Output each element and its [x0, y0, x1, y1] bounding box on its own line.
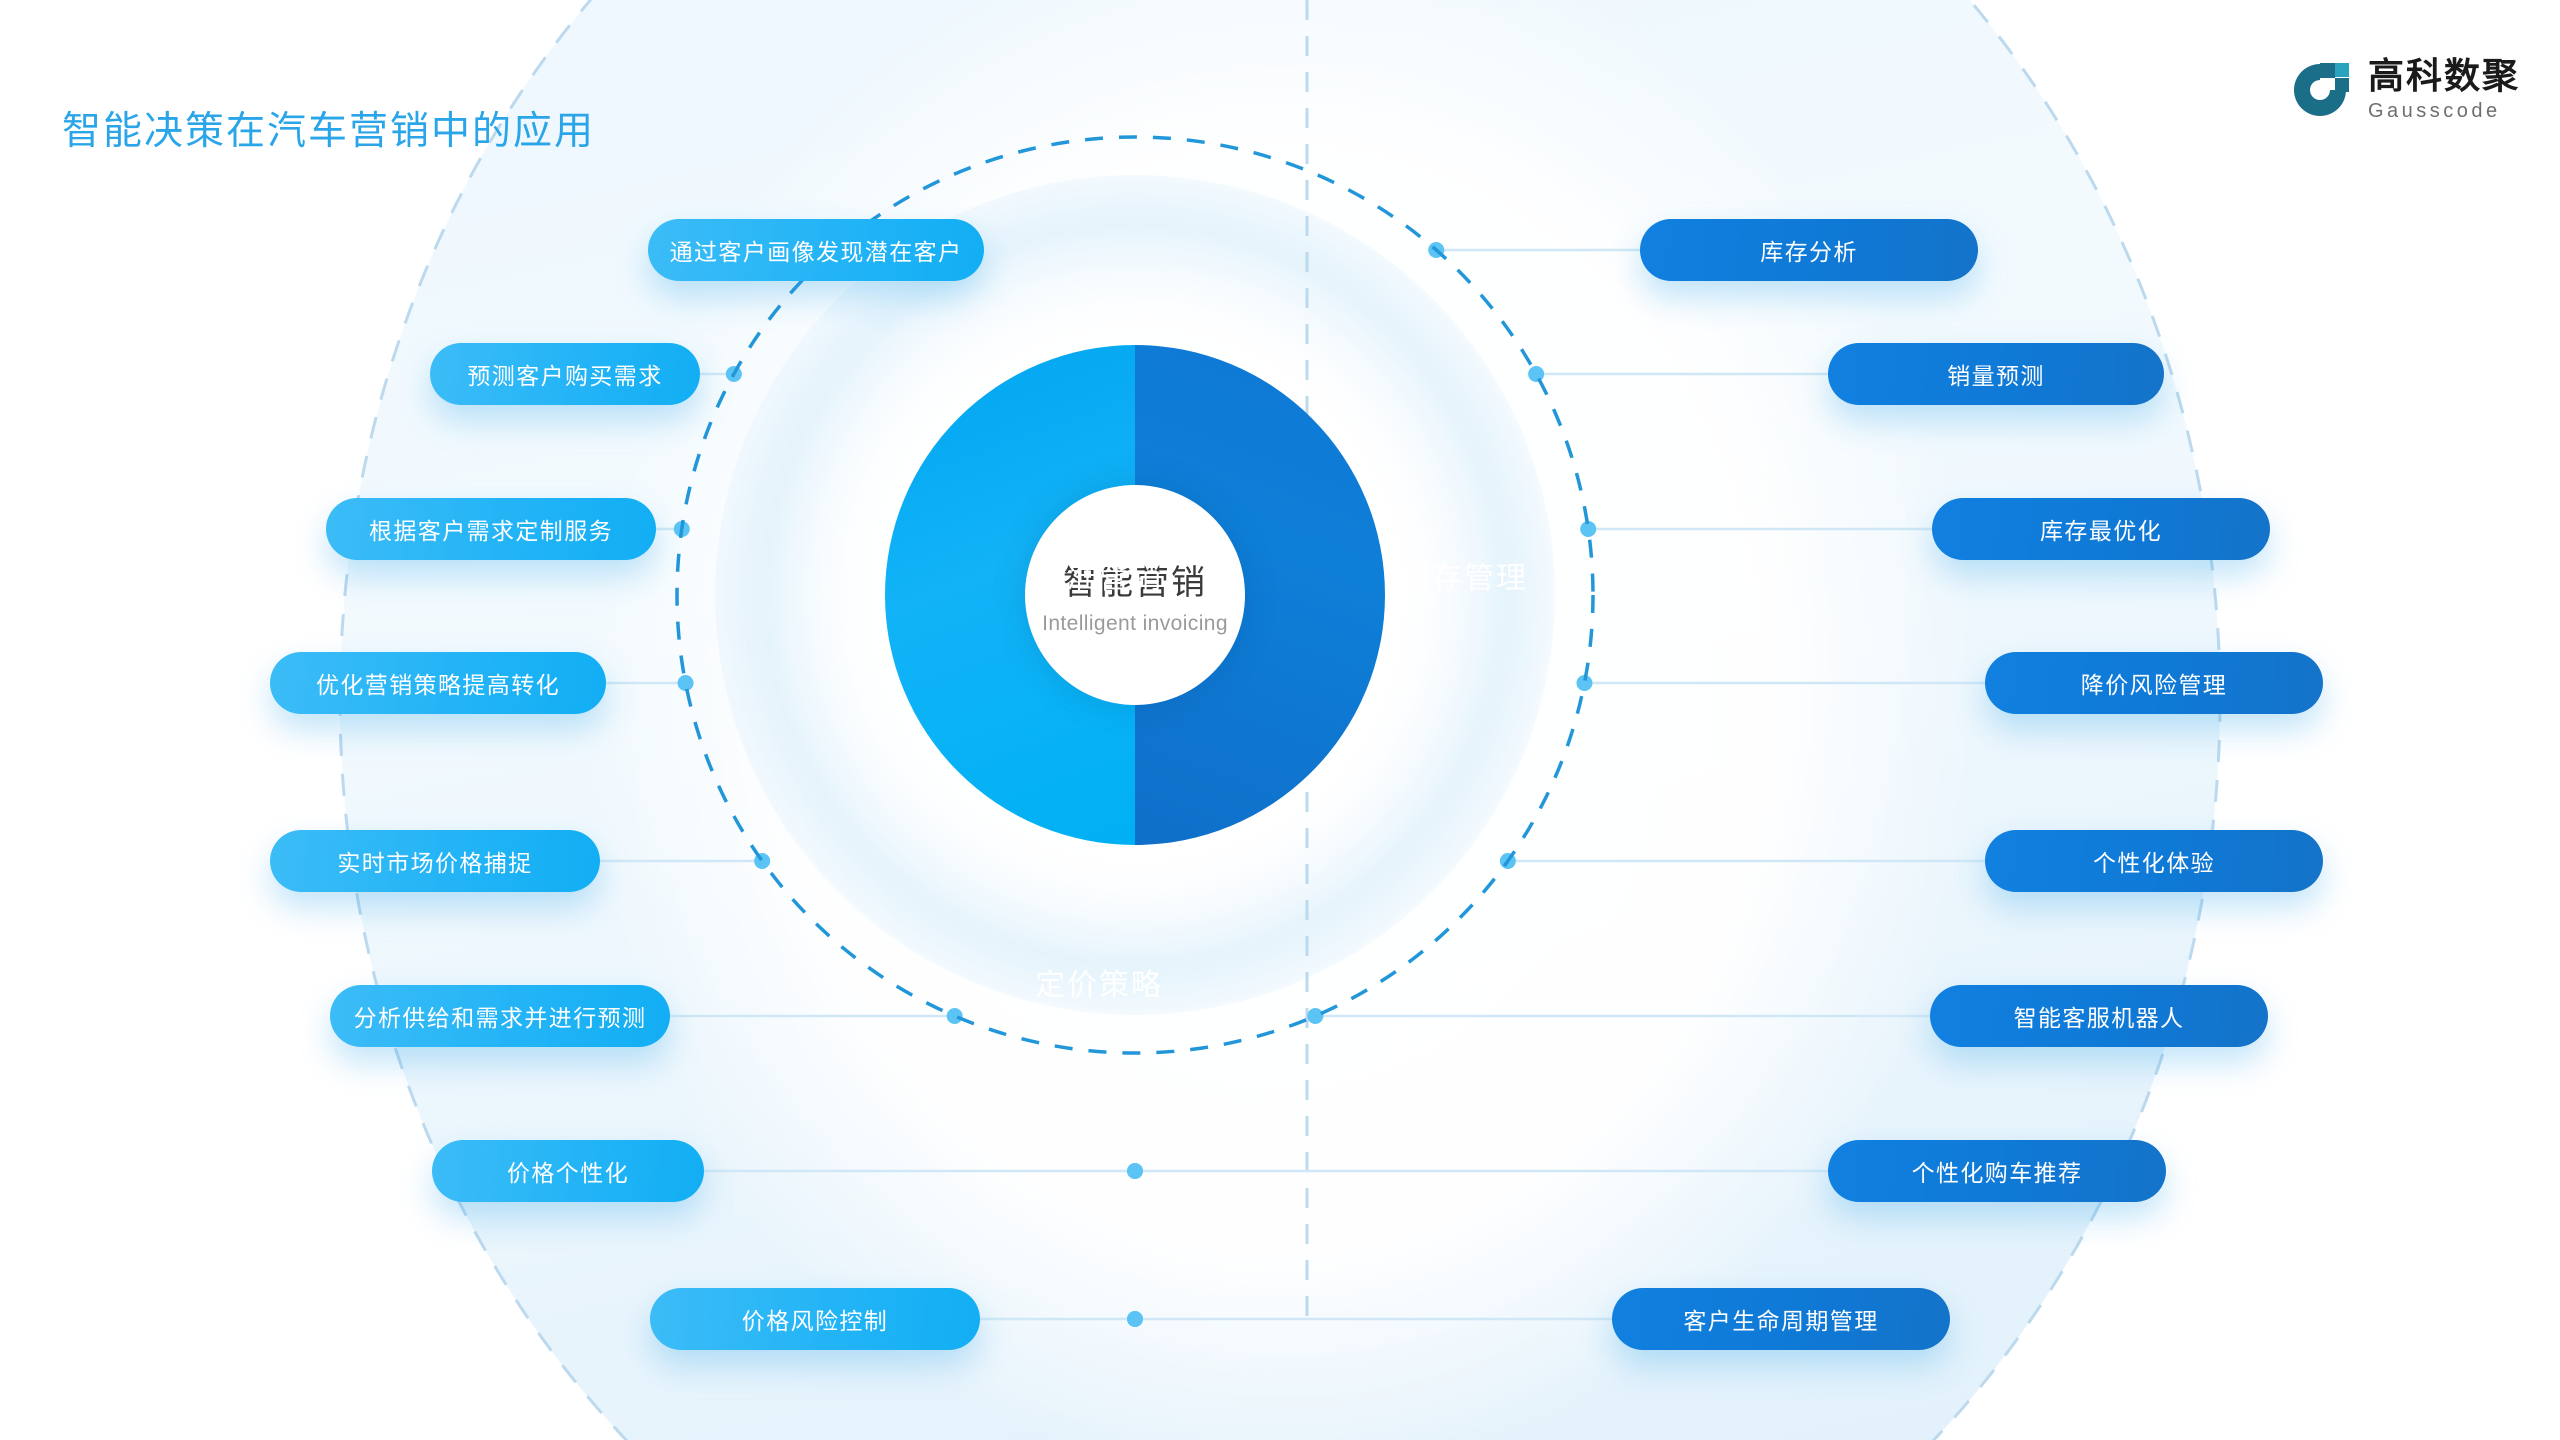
- item-pill-label: 优化营销策略提高转化: [316, 666, 560, 700]
- item-pill-label: 库存分析: [1760, 233, 1858, 267]
- item-pill[interactable]: 库存最优化: [1932, 498, 2270, 560]
- connector-dot: [1500, 853, 1516, 869]
- gausscode-logo-icon: [2290, 60, 2350, 120]
- connector-dot: [754, 853, 770, 869]
- page-title: 智能决策在汽车营销中的应用: [62, 100, 595, 156]
- item-pill[interactable]: 根据客户需求定制服务: [326, 498, 656, 560]
- item-pill-label: 价格个性化: [507, 1154, 629, 1188]
- item-pill[interactable]: 实时市场价格捕捉: [270, 830, 600, 892]
- connector-dot: [1127, 1311, 1143, 1327]
- item-pill[interactable]: 客户生命周期管理: [1612, 1288, 1950, 1350]
- item-pill-label: 销量预测: [1947, 357, 2045, 391]
- brand-logo: 高科数聚 Gausscode: [2290, 58, 2520, 121]
- connector-dot: [1307, 1008, 1323, 1024]
- item-pill-label: 预测客户购买需求: [467, 357, 662, 391]
- logo-name-cn: 高科数聚: [2368, 58, 2520, 94]
- item-pill-label: 库存最优化: [2040, 512, 2162, 546]
- item-pill-label: 降价风险管理: [2081, 666, 2227, 700]
- item-pill[interactable]: 优化营销策略提高转化: [270, 652, 606, 714]
- item-pill[interactable]: 分析供给和需求并进行预测: [330, 985, 670, 1047]
- item-pill-label: 客户生命周期管理: [1683, 1302, 1878, 1336]
- quadrant-label-inventory-management: 库存管理: [1400, 553, 1528, 597]
- connector-dot: [726, 366, 742, 382]
- item-pill-label: 通过客户画像发现潜在客户: [670, 233, 963, 267]
- connector-dot: [947, 1008, 963, 1024]
- item-pill[interactable]: 降价风险管理: [1985, 652, 2323, 714]
- item-pill-label: 智能客服机器人: [2014, 999, 2185, 1033]
- item-pill[interactable]: 通过客户画像发现潜在客户: [648, 219, 984, 281]
- core-title-en: Intelligent invoicing: [1042, 612, 1228, 636]
- infographic-canvas: 智能营销 Intelligent invoicing 精准营销 库存管理 定价策…: [0, 0, 2560, 1440]
- item-pill[interactable]: 销量预测: [1828, 343, 2164, 405]
- item-pill[interactable]: 库存分析: [1640, 219, 1978, 281]
- connector-dot: [1428, 242, 1444, 258]
- item-pill-label: 分析供给和需求并进行预测: [354, 999, 647, 1033]
- item-pill[interactable]: 价格风险控制: [650, 1288, 980, 1350]
- connector-dot: [1580, 521, 1596, 537]
- connector-dot: [1127, 1311, 1143, 1327]
- connector-dot: [1127, 1163, 1143, 1179]
- item-pill-label: 价格风险控制: [742, 1302, 888, 1336]
- connector-dot: [674, 521, 690, 537]
- item-pill[interactable]: 价格个性化: [432, 1140, 704, 1202]
- quadrant-label-pricing-strategy: 定价策略: [1035, 960, 1163, 1004]
- connector-dot: [678, 675, 694, 691]
- item-pill[interactable]: 个性化购车推荐: [1828, 1140, 2166, 1202]
- connector-dot: [1576, 675, 1592, 691]
- quadrant-label-customer-experience: 客户体验: [1388, 952, 1516, 996]
- item-pill[interactable]: 智能客服机器人: [1930, 985, 2268, 1047]
- connector-dot: [1127, 1163, 1143, 1179]
- connector-dot: [1528, 366, 1544, 382]
- item-pill-label: 实时市场价格捕捉: [337, 844, 532, 878]
- item-pill[interactable]: 预测客户购买需求: [430, 343, 700, 405]
- logo-name-en: Gausscode: [2368, 101, 2520, 121]
- item-pill[interactable]: 个性化体验: [1985, 830, 2323, 892]
- item-pill-label: 个性化体验: [2093, 844, 2215, 878]
- item-pill-label: 个性化购车推荐: [1912, 1154, 2083, 1188]
- item-pill-label: 根据客户需求定制服务: [369, 512, 613, 546]
- quadrant-label-precision-marketing: 精准营销: [1035, 553, 1163, 597]
